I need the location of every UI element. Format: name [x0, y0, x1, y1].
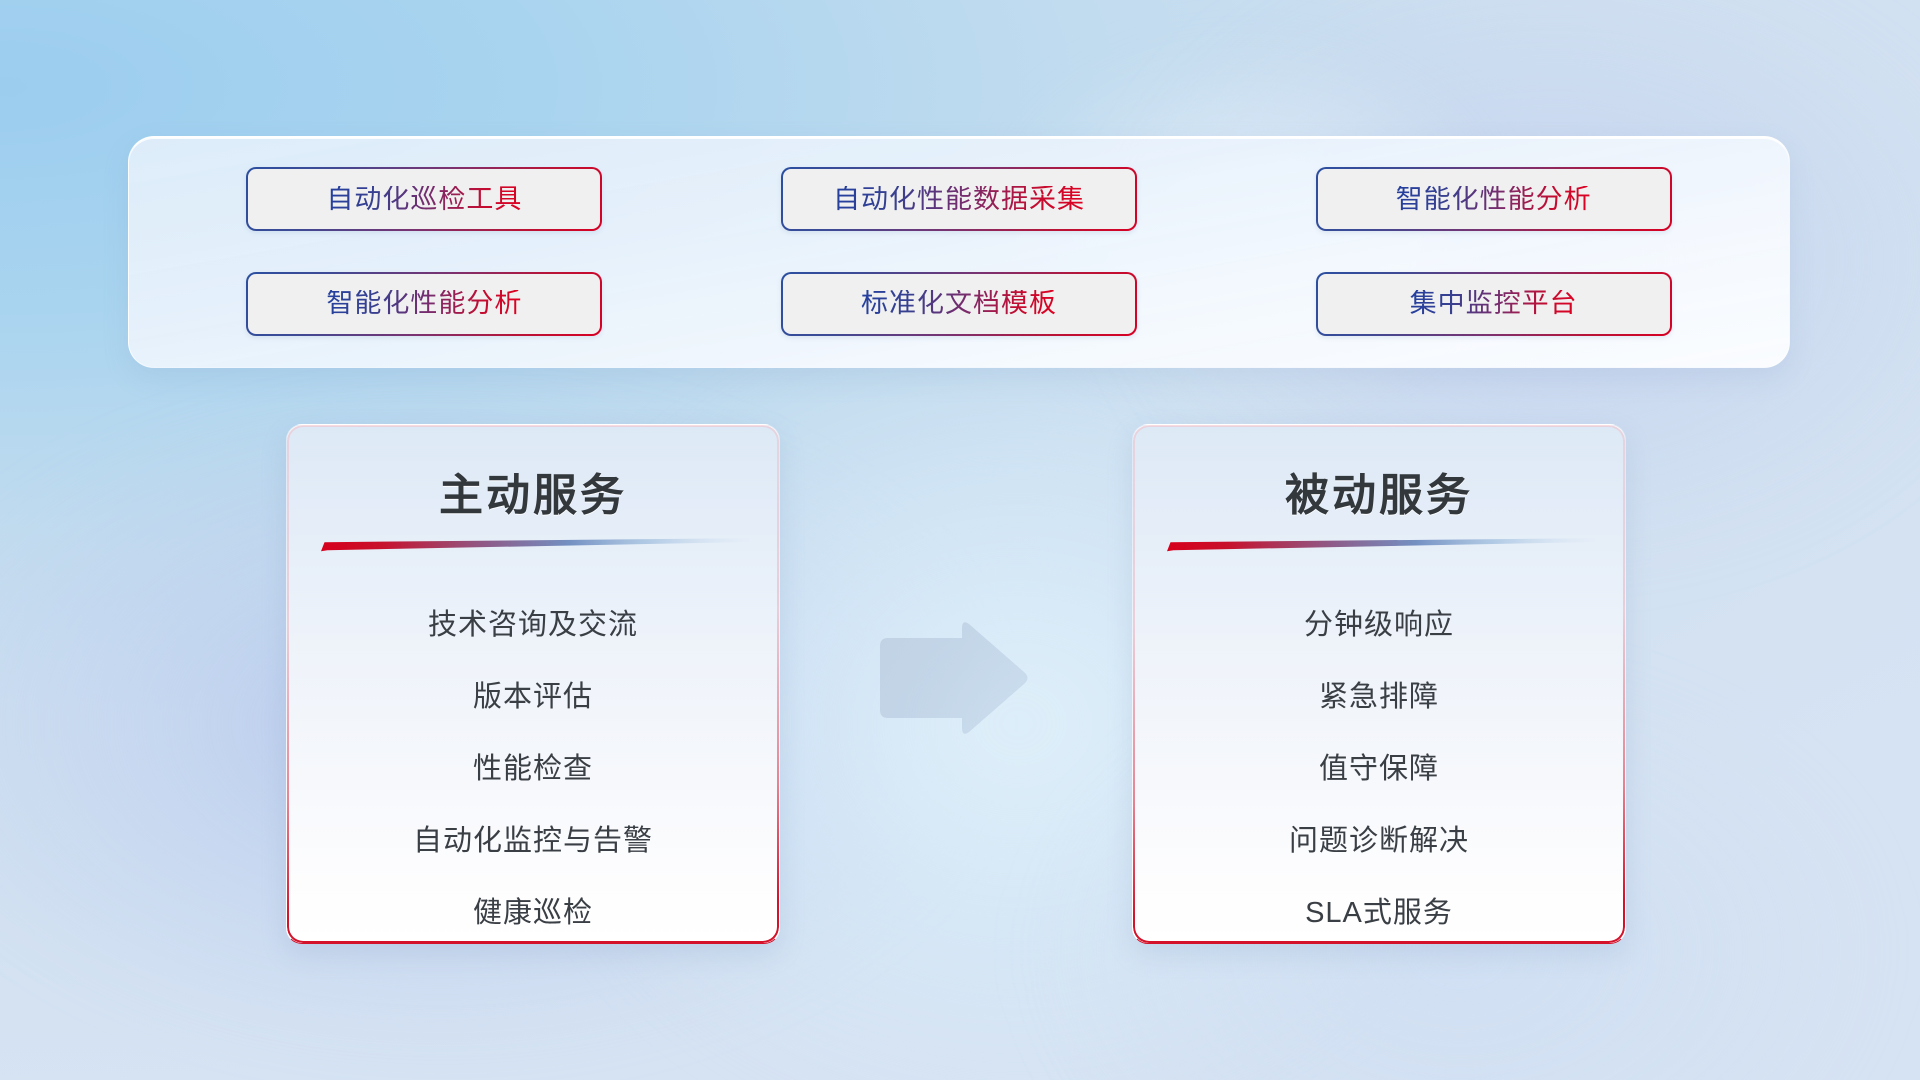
- capability-panel: 自动化巡检工具 自动化性能数据采集 智能化性能分析 智能化性能分析 标准化文档模…: [128, 136, 1790, 368]
- list-item: 技术咨询及交流: [428, 589, 638, 661]
- proactive-service-list: 技术咨询及交流 版本评估 性能检查 自动化监控与告警 健康巡检: [287, 589, 779, 917]
- list-item: 自动化监控与告警: [413, 805, 653, 877]
- capability-pill-4-label: 智能化性能分析: [326, 290, 522, 317]
- capability-pill-grid: 自动化巡检工具 自动化性能数据采集 智能化性能分析 智能化性能分析 标准化文档模…: [129, 138, 1789, 367]
- capability-pill-3[interactable]: 智能化性能分析: [1316, 167, 1672, 231]
- proactive-card-title: 主动服务: [287, 459, 779, 523]
- list-item: 值守保障: [1319, 733, 1439, 805]
- list-item: 问题诊断解决: [1289, 805, 1469, 877]
- proactive-card-divider: [321, 537, 749, 553]
- reactive-card-divider: [1167, 537, 1595, 553]
- capability-pill-3-label: 智能化性能分析: [1396, 186, 1592, 213]
- capability-pill-3-inner: 智能化性能分析: [1318, 169, 1670, 229]
- capability-pill-2-inner: 自动化性能数据采集: [783, 169, 1135, 229]
- capability-pill-2[interactable]: 自动化性能数据采集: [781, 167, 1137, 231]
- list-item: 分钟级响应: [1304, 589, 1454, 661]
- list-item: SLA式服务: [1305, 877, 1453, 944]
- list-item: 紧急排障: [1319, 661, 1439, 733]
- capability-pill-4[interactable]: 智能化性能分析: [246, 272, 602, 336]
- capability-pill-5[interactable]: 标准化文档模板: [781, 272, 1137, 336]
- capability-pill-6-inner: 集中监控平台: [1318, 274, 1670, 334]
- list-item: 性能检查: [473, 733, 593, 805]
- arrow-right-icon: [872, 618, 1032, 738]
- reactive-card-title: 被动服务: [1133, 459, 1625, 523]
- capability-pill-5-label: 标准化文档模板: [861, 290, 1057, 317]
- list-item: 健康巡检: [473, 877, 593, 944]
- reactive-service-list: 分钟级响应 紧急排障 值守保障 问题诊断解决 SLA式服务: [1133, 589, 1625, 917]
- reactive-service-card: 被动服务 分钟级响应 紧急排障 值守保障 问题诊断解决 SLA式服务: [1132, 424, 1626, 944]
- capability-pill-6-label: 集中监控平台: [1410, 290, 1578, 317]
- capability-pill-1-label: 自动化巡检工具: [326, 186, 522, 213]
- capability-pill-5-inner: 标准化文档模板: [783, 274, 1135, 334]
- proactive-service-card: 主动服务 技术咨询及交流 版本评估 性能检查 自动化监控与告警 健康巡检: [286, 424, 780, 944]
- capability-pill-2-label: 自动化性能数据采集: [833, 186, 1085, 213]
- capability-pill-1[interactable]: 自动化巡检工具: [246, 167, 602, 231]
- list-item: 版本评估: [473, 661, 593, 733]
- capability-pill-4-inner: 智能化性能分析: [248, 274, 600, 334]
- capability-pill-6[interactable]: 集中监控平台: [1316, 272, 1672, 336]
- capability-pill-1-inner: 自动化巡检工具: [248, 169, 600, 229]
